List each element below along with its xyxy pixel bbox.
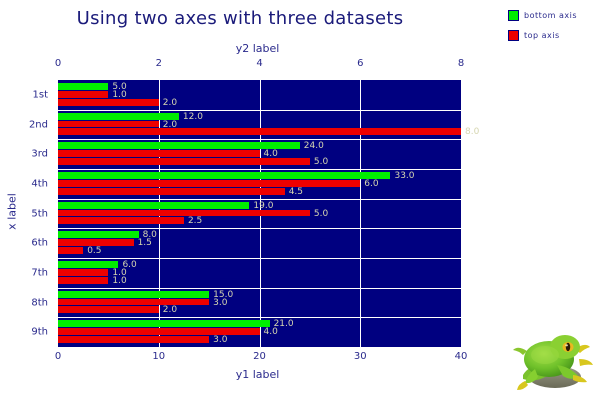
- legend: bottom axistop axis: [508, 10, 598, 50]
- bar: [58, 239, 134, 246]
- bar-value-label: 5.0: [314, 209, 328, 219]
- gridline: [58, 317, 461, 318]
- category-tick-label: 6th: [31, 238, 48, 249]
- category-tick-label: 9th: [31, 327, 48, 338]
- bottom-axis-tick-label: 40: [455, 351, 468, 362]
- category-tick-label: 2nd: [29, 119, 48, 130]
- category-tick-label: 4th: [31, 178, 48, 189]
- gridline: [58, 169, 461, 170]
- bar-value-label: 1.5: [138, 238, 152, 248]
- legend-label: bottom axis: [524, 11, 577, 20]
- gridline: [58, 110, 461, 111]
- category-tick-label: 8th: [31, 297, 48, 308]
- bar-value-label: 33.0: [394, 171, 414, 181]
- bar-value-label: 6.0: [364, 179, 378, 189]
- bar: [58, 99, 159, 106]
- bar: [58, 320, 270, 327]
- bar: [58, 142, 300, 149]
- bar: [58, 210, 310, 217]
- bar-value-label: 4.0: [264, 327, 278, 337]
- bar: [58, 128, 461, 135]
- gridline: [58, 139, 461, 140]
- bar-value-label: 1.0: [112, 276, 126, 286]
- bar-value-label: 4.5: [289, 187, 303, 197]
- bar: [58, 180, 360, 187]
- bottom-axis-label: y1 label: [55, 368, 460, 381]
- bar-value-label: 5.0: [314, 157, 328, 167]
- bar: [58, 121, 159, 128]
- bar: [58, 328, 260, 335]
- bar-value-label: 12.0: [183, 112, 203, 122]
- gridline: [360, 80, 361, 347]
- green-tree-frog-photo: [505, 325, 593, 395]
- bar: [58, 269, 108, 276]
- top-axis-tick-label: 6: [357, 58, 363, 69]
- top-axis-label: y2 label: [55, 42, 460, 55]
- bar-value-label: 2.0: [163, 98, 177, 108]
- bar: [58, 91, 108, 98]
- bar: [58, 247, 83, 254]
- legend-item[interactable]: bottom axis: [508, 10, 598, 21]
- category-tick-label: 7th: [31, 267, 48, 278]
- top-axis-tick-label: 2: [156, 58, 162, 69]
- bar-value-label: 24.0: [304, 141, 324, 151]
- chart-figure: Using two axes with three datasets y2 la…: [0, 0, 600, 400]
- bar: [58, 172, 390, 179]
- bar-value-label: 3.0: [213, 335, 227, 345]
- bar: [58, 291, 209, 298]
- category-tick-label: 5th: [31, 208, 48, 219]
- top-axis-tick-label: 4: [256, 58, 262, 69]
- bar-value-label: 2.5: [188, 216, 202, 226]
- legend-swatch-icon: [508, 30, 519, 41]
- bar: [58, 261, 118, 268]
- legend-swatch-icon: [508, 10, 519, 21]
- category-tick-label: 1st: [33, 89, 49, 100]
- bar: [58, 306, 159, 313]
- bar: [58, 158, 310, 165]
- category-tick-label: 3rd: [31, 149, 48, 160]
- bar: [58, 83, 108, 90]
- bar-value-label: 0.5: [87, 246, 101, 256]
- bottom-axis-tick-label: 10: [152, 351, 165, 362]
- bottom-axis-tick-label: 20: [253, 351, 266, 362]
- gridline: [58, 288, 461, 289]
- bar: [58, 150, 260, 157]
- bar: [58, 217, 184, 224]
- bar-value-label: 3.0: [213, 298, 227, 308]
- chart-title: Using two axes with three datasets: [0, 8, 480, 29]
- gridline: [58, 258, 461, 259]
- top-axis-tick-label: 8: [458, 58, 464, 69]
- bar: [58, 188, 285, 195]
- plot-area: 5.01.02.012.02.08.024.04.05.033.06.04.51…: [58, 80, 461, 347]
- bottom-axis-tick-label: 30: [354, 351, 367, 362]
- top-axis-tick-label: 0: [55, 58, 61, 69]
- bar-value-label: 8.0: [465, 127, 479, 137]
- bar: [58, 231, 139, 238]
- bar: [58, 277, 108, 284]
- bar: [58, 113, 179, 120]
- legend-label: top axis: [524, 31, 560, 40]
- bar: [58, 336, 209, 343]
- bottom-axis-tick-label: 0: [55, 351, 61, 362]
- legend-item[interactable]: top axis: [508, 30, 598, 41]
- category-axis-ticks: 1st2nd3rd4th5th6th7th8th9th: [0, 80, 54, 347]
- bar-value-label: 2.0: [163, 305, 177, 315]
- gridline: [58, 228, 461, 229]
- bar: [58, 202, 249, 209]
- bar: [58, 299, 209, 306]
